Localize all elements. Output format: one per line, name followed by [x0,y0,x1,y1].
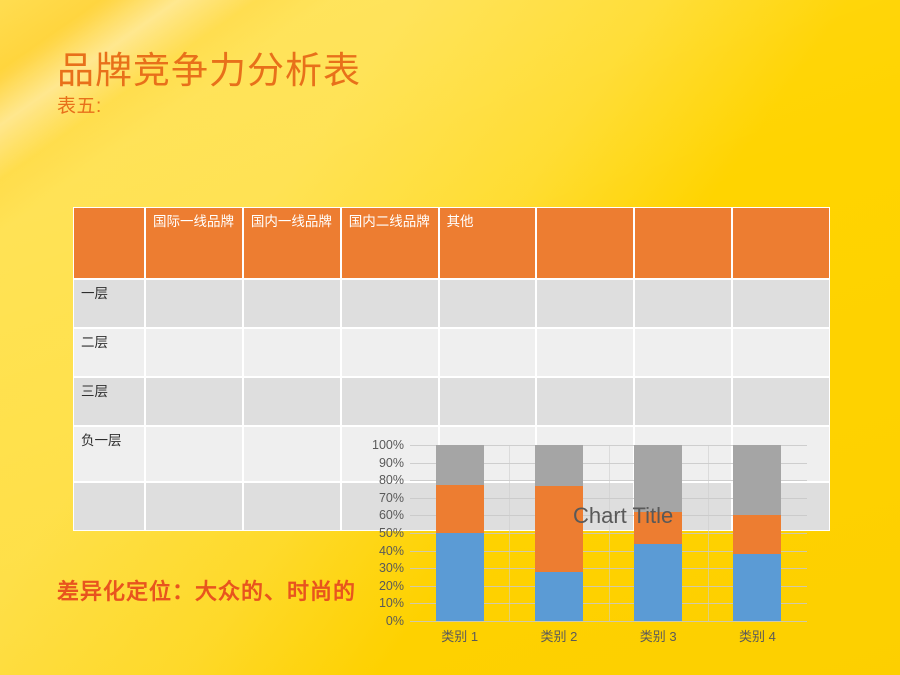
table-cell [732,377,830,426]
chart-y-axis-tick-label: 30% [379,561,404,575]
chart-bar [733,445,781,621]
table-cell [341,377,439,426]
table-header-cell [732,207,830,279]
table-header-cell [73,207,145,279]
chart-category-separator [509,445,510,621]
table-cell [634,279,732,328]
chart-x-axis-category-label: 类别 4 [697,626,817,645]
page-title: 品牌竞争力分析表 [57,50,361,92]
chart-bar-segment [436,533,484,621]
chart-y-axis-tick-label: 50% [379,526,404,540]
chart-y-axis-tick-label: 60% [379,508,404,522]
table-cell [145,426,243,482]
table-cell [536,377,634,426]
table-row-label: 一层 [73,279,145,328]
chart-category-separator [609,445,610,621]
table-header-cell [634,207,732,279]
table-cell [145,482,243,531]
chart-bar [436,445,484,621]
table-cell [145,328,243,377]
chart-bar-segment [634,445,682,512]
chart-bar [634,445,682,621]
stacked-bar-chart: 0%10%20%30%40%50%60%70%80%90%100%类别 1类别 … [357,437,827,649]
chart-bar-segment [733,515,781,554]
chart-y-axis-tick-label: 90% [379,456,404,470]
page-subtitle: 表五: [57,94,361,120]
chart-plot-area: 0%10%20%30%40%50%60%70%80%90%100%类别 1类别 … [410,445,807,621]
table-header-cell: 国内一线品牌 [243,207,341,279]
chart-y-axis-tick-label: 10% [379,596,404,610]
table-cell [536,328,634,377]
chart-bar-segment [535,445,583,485]
table-row-label: 负一层 [73,426,145,482]
chart-bar-segment [634,544,682,621]
table-header-cell: 国际一线品牌 [145,207,243,279]
chart-title: Chart Title [573,503,673,529]
footer-note: 差异化定位：大众的、时尚的 [57,574,356,606]
table-cell [243,377,341,426]
chart-bar-segment [535,572,583,621]
table-header-cell: 国内二线品牌 [341,207,439,279]
chart-y-axis-tick-label: 20% [379,579,404,593]
table-cell [536,279,634,328]
table-header-cell: 其他 [439,207,537,279]
chart-bar-segment [436,485,484,533]
chart-y-axis-tick-label: 100% [372,438,404,452]
table-cell [732,328,830,377]
table-cell [145,279,243,328]
chart-bar-segment [436,445,484,485]
table-row: 三层 [73,377,830,426]
table-cell [145,377,243,426]
table-cell [243,328,341,377]
chart-y-axis-tick-label: 70% [379,491,404,505]
table-row: 二层 [73,328,830,377]
table-cell [243,279,341,328]
table-cell [341,328,439,377]
chart-y-axis-tick-label: 80% [379,473,404,487]
chart-gridline [410,621,807,622]
table-cell [439,279,537,328]
table-row-label [73,482,145,531]
table-cell [732,279,830,328]
table-cell [634,328,732,377]
table-cell [439,377,537,426]
chart-bar-segment [733,445,781,515]
table-cell [439,328,537,377]
chart-category-separator [708,445,709,621]
table-cell [243,482,341,531]
table-row-label: 二层 [73,328,145,377]
table-cell [341,279,439,328]
chart-y-axis-tick-label: 40% [379,544,404,558]
chart-bar-segment [733,554,781,621]
table-header-cell [536,207,634,279]
title-block: 品牌竞争力分析表 表五: [57,50,361,120]
table-cell [634,377,732,426]
chart-bar [535,445,583,621]
table-row: 一层 [73,279,830,328]
table-row-label: 三层 [73,377,145,426]
table-cell [243,426,341,482]
table-header-row: 国际一线品牌 国内一线品牌 国内二线品牌 其他 [73,207,830,279]
